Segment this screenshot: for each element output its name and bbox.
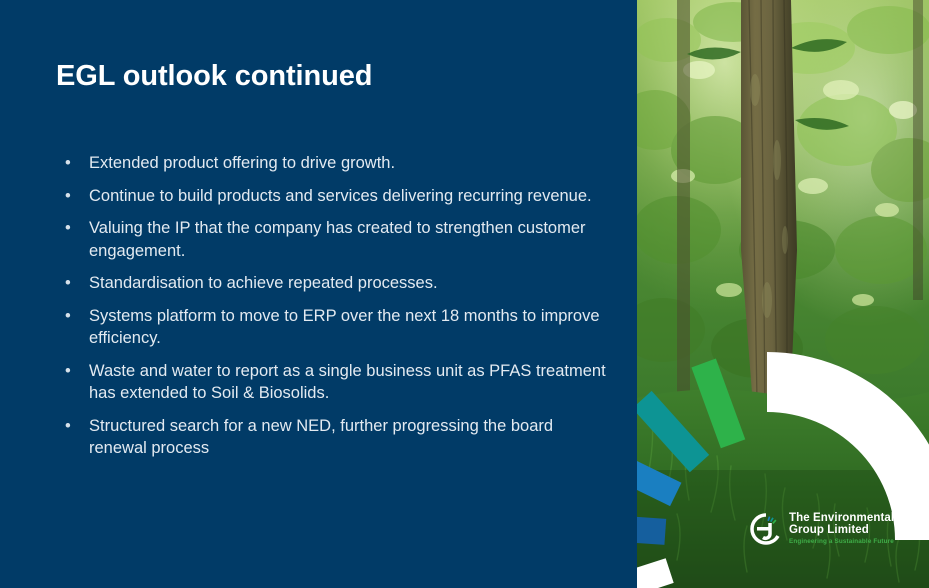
list-item-text: Waste and water to report as a single bu… <box>89 360 607 405</box>
list-item-text: Continue to build products and services … <box>89 185 607 208</box>
list-item-text: Standardisation to achieve repeated proc… <box>89 272 607 295</box>
egl-logo-mark-icon <box>750 513 782 545</box>
list-item-text: Structured search for a new NED, further… <box>89 415 607 460</box>
list-item-text: Valuing the IP that the company has crea… <box>89 217 607 262</box>
list-item: • Standardisation to achieve repeated pr… <box>62 272 607 295</box>
list-item: • Extended product offering to drive gro… <box>62 152 607 175</box>
presentation-slide: EGL outlook continued • Extended product… <box>0 0 929 588</box>
bullet-point-icon: • <box>65 185 71 208</box>
bullet-point-icon: • <box>65 152 71 175</box>
bullet-point-icon: • <box>65 272 71 295</box>
logo-line-1: The Environmental <box>789 512 894 524</box>
list-item: • Waste and water to report as a single … <box>62 360 607 405</box>
logo-accent-dashes <box>767 516 776 524</box>
logo-wordmark: The Environmental Group Limited Engineer… <box>789 512 894 546</box>
logo-tagline: Engineering a Sustainable Future <box>789 539 894 546</box>
page-title: EGL outlook continued <box>56 60 372 93</box>
forest-photo-image <box>637 0 929 588</box>
list-item: • Continue to build products and service… <box>62 185 607 208</box>
logo-line-2: Group Limited <box>789 524 894 536</box>
bullet-list: • Extended product offering to drive gro… <box>62 152 607 470</box>
list-item-text: Extended product offering to drive growt… <box>89 152 607 175</box>
list-item-text: Systems platform to move to ERP over the… <box>89 305 607 350</box>
bullet-point-icon: • <box>65 217 71 240</box>
list-item: • Systems platform to move to ERP over t… <box>62 305 607 350</box>
list-item: • Valuing the IP that the company has cr… <box>62 217 607 262</box>
bullet-point-icon: • <box>65 305 71 328</box>
forest-photo-panel <box>637 0 929 588</box>
slide-content-panel: EGL outlook continued • Extended product… <box>0 0 637 588</box>
list-item: • Structured search for a new NED, furth… <box>62 415 607 460</box>
bullet-point-icon: • <box>65 360 71 383</box>
bullet-point-icon: • <box>65 415 71 438</box>
company-logo: The Environmental Group Limited Engineer… <box>750 512 894 546</box>
